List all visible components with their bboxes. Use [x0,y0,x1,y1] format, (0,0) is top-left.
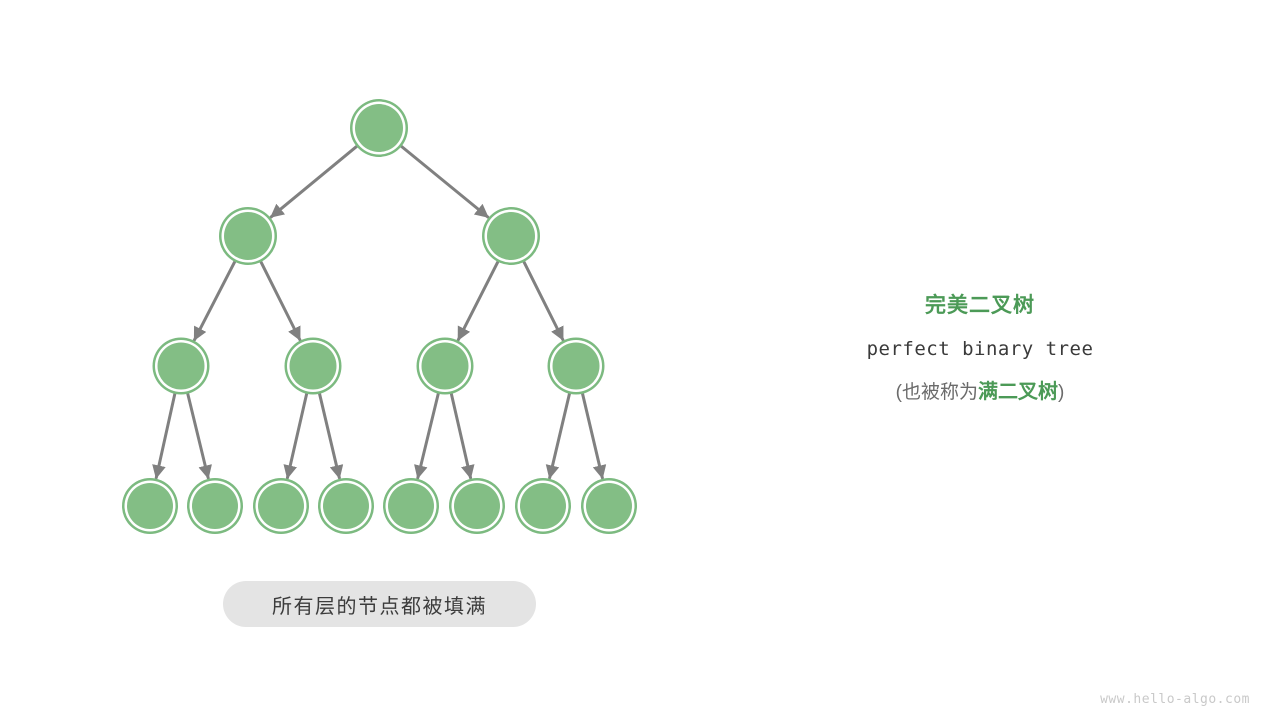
caption-badge: 所有层的节点都被填满 [223,581,536,627]
tree-node [520,483,566,529]
tree-edge [195,262,235,340]
tree-edge [261,262,300,340]
tree-node [224,212,272,260]
tree-node [454,483,500,529]
tree-node [422,343,469,390]
tree-edge [458,262,498,340]
tree-edge [550,394,570,478]
diagram-canvas: 所有层的节点都被填满 完美二叉树 perfect binary tree (也被… [0,0,1280,720]
tree-edge [583,394,603,478]
tree-node [323,483,369,529]
tree-edge [524,262,563,340]
tree-edge [451,394,470,478]
tree-edge [287,394,306,478]
edge-group [156,146,602,477]
legend-alias-prefix: (也被称为 [896,382,978,403]
tree-edge [188,394,208,478]
tree-node [258,483,304,529]
tree-edge [320,394,340,478]
legend-alias: (也被称为满二叉树) [770,379,1190,406]
legend-alias-highlight: 满二叉树 [978,381,1058,403]
tree-node [586,483,632,529]
tree-node [158,343,205,390]
legend-alias-suffix: ) [1058,382,1064,403]
tree-node [127,483,173,529]
tree-node [487,212,535,260]
legend-title: 完美二叉树 [770,292,1190,320]
tree-node [290,343,337,390]
tree-edge [401,146,487,217]
tree-node [553,343,600,390]
tree-node [388,483,434,529]
caption-text: 所有层的节点都被填满 [272,590,487,619]
tree-node [355,104,403,152]
tree-edge [156,394,175,478]
tree-edge [271,146,356,216]
watermark: www.hello-algo.com [1100,692,1250,707]
legend-block: 完美二叉树 perfect binary tree (也被称为满二叉树) [770,292,1190,406]
tree-edge [418,394,438,478]
legend-english-term: perfect binary tree [770,337,1190,361]
tree-node [192,483,238,529]
